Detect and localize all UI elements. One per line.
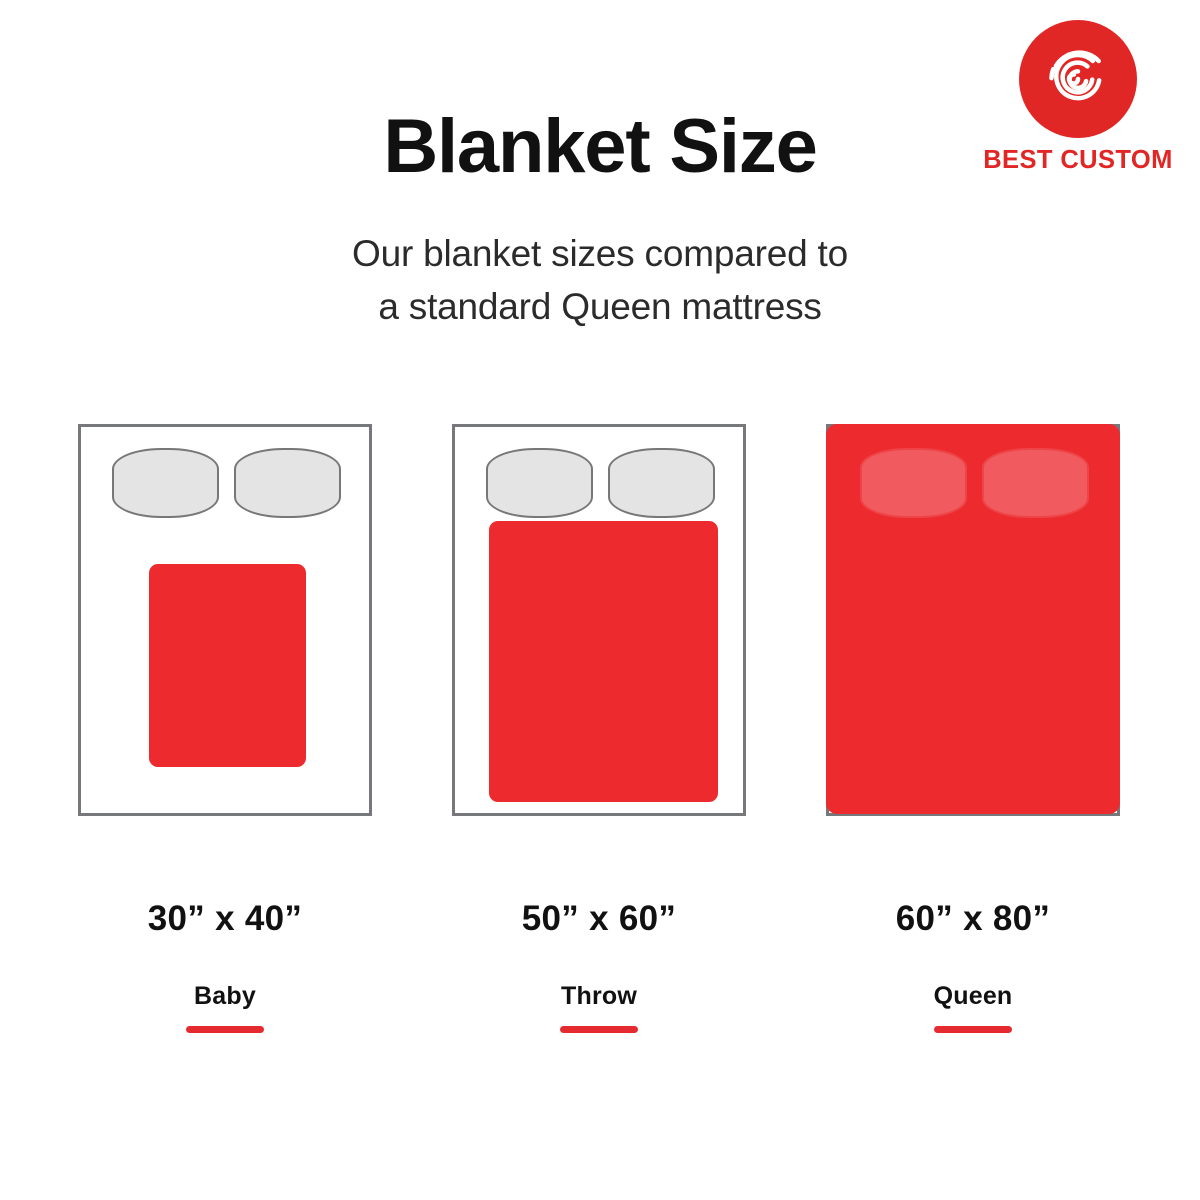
caption-queen: 60” x 80” Queen (826, 900, 1120, 1033)
pillow-left-queen (860, 448, 967, 518)
subtitle-line-2: a standard Queen mattress (0, 281, 1200, 334)
pillow-right-baby (234, 448, 341, 518)
accent-underline-baby (186, 1026, 264, 1033)
bed-diagram-baby (78, 424, 372, 816)
dimensions-label-throw: 50” x 60” (452, 900, 746, 939)
dimensions-label-queen: 60” x 80” (826, 900, 1120, 939)
dimensions-label-baby: 30” x 40” (78, 900, 372, 939)
caption-throw: 50” x 60” Throw (452, 900, 746, 1033)
size-name-baby: Baby (78, 983, 372, 1011)
caption-row: 30” x 40” Baby 50” x 60” Throw 60” x 80”… (0, 900, 1200, 1060)
pillow-right-throw (608, 448, 715, 518)
blanket-throw (489, 521, 718, 802)
pillow-right-queen (982, 448, 1089, 518)
blanket-baby (149, 564, 306, 767)
infographic-page: BEST CUSTOM Blanket Size Our blanket siz… (0, 0, 1200, 1200)
pillow-left-baby (112, 448, 219, 518)
page-title: Blanket Size (0, 106, 1200, 188)
bed-diagram-row (0, 424, 1200, 816)
subtitle-line-1: Our blanket sizes compared to (0, 228, 1200, 281)
caption-baby: 30” x 40” Baby (78, 900, 372, 1033)
bed-diagram-queen (826, 424, 1120, 816)
pillow-left-throw (486, 448, 593, 518)
bed-diagram-throw (452, 424, 746, 816)
accent-underline-throw (560, 1026, 638, 1033)
accent-underline-queen (934, 1026, 1012, 1033)
size-name-queen: Queen (826, 983, 1120, 1011)
page-subtitle: Our blanket sizes compared to a standard… (0, 228, 1200, 333)
size-name-throw: Throw (452, 983, 746, 1011)
blanket-queen (826, 424, 1120, 814)
